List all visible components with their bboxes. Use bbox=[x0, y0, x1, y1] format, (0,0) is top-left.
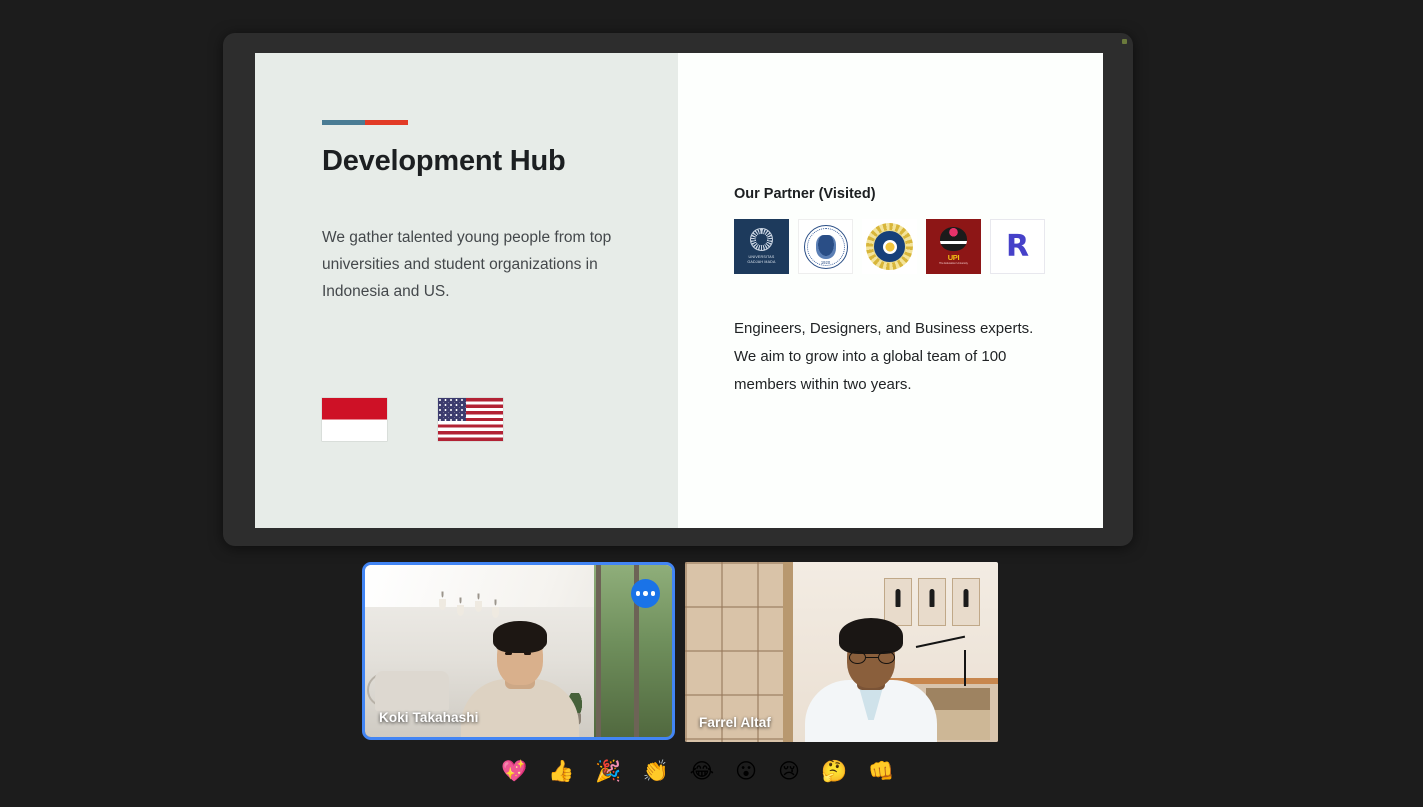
thumbs-up-reaction[interactable]: 👍 bbox=[548, 761, 574, 782]
ugm-emblem-icon bbox=[750, 228, 773, 251]
uad-seal-core bbox=[883, 240, 897, 254]
participant-name-farrel-altaf: Farrel Altaf bbox=[699, 715, 771, 730]
partner-body-text: Engineers, Designers, and Business exper… bbox=[734, 315, 1054, 399]
slide-left-panel: Development Hub We gather talented young… bbox=[255, 53, 678, 528]
uad-seal-inner bbox=[873, 230, 906, 263]
thinking-face-reaction[interactable]: 🤔 bbox=[821, 761, 847, 782]
upi-logo-tagline: The Education University bbox=[939, 262, 968, 265]
koki-scene-sofa bbox=[375, 671, 449, 711]
fist-bump-reaction[interactable]: 👊 bbox=[868, 761, 894, 782]
face-with-tears-of-joy-reaction[interactable]: 😂 bbox=[690, 761, 715, 782]
uad-seal-icon bbox=[866, 223, 913, 270]
slide-body-text: We gather talented young people from top… bbox=[322, 224, 637, 305]
r-logo-letter: R bbox=[1006, 232, 1029, 262]
sparkling-heart-reaction[interactable]: 💖 bbox=[501, 761, 527, 782]
participant-tile-koki-takahashi[interactable]: Koki Takahashi bbox=[362, 562, 675, 740]
partner-logo-row: UNIVERSITAS GADJAH MADA 1920 bbox=[734, 219, 1103, 274]
farrel-person-hair bbox=[839, 618, 903, 654]
accent-bar-red-segment bbox=[365, 120, 408, 125]
reaction-bar: 💖 👍 🎉 👏 😂 😮 😢 🤔 👊 bbox=[497, 753, 898, 789]
upi-mark: UPI The Education University bbox=[939, 227, 968, 265]
r-logo-icon: R bbox=[990, 219, 1045, 274]
recording-dot-icon bbox=[1122, 39, 1127, 44]
partner-heading: Our Partner (Visited) bbox=[734, 186, 1103, 202]
koki-person-hair bbox=[493, 621, 547, 651]
video-call-screen: Development Hub We gather talented young… bbox=[0, 0, 1423, 807]
indonesia-flag-icon bbox=[322, 398, 387, 441]
clapping-hands-reaction[interactable]: 👏 bbox=[642, 761, 668, 782]
accent-bar-blue-segment bbox=[322, 120, 365, 125]
participant-name-koki-takahashi: Koki Takahashi bbox=[379, 710, 478, 725]
upi-emblem-icon bbox=[940, 227, 967, 251]
presentation-slide: Development Hub We gather talented young… bbox=[255, 53, 1103, 528]
koki-person-right-eye bbox=[524, 652, 531, 655]
koki-scene-person bbox=[461, 617, 579, 737]
farrel-person-glasses bbox=[849, 651, 895, 664]
accent-bar bbox=[322, 120, 408, 125]
itb-logo-year: 1920 bbox=[805, 260, 847, 265]
ugm-logo-line2: GADJAH MADA bbox=[747, 260, 775, 265]
flag-group bbox=[322, 398, 503, 441]
face-with-open-mouth-reaction[interactable]: 😮 bbox=[735, 761, 757, 782]
slide-right-panel: Our Partner (Visited) UNIVERSITAS GADJAH… bbox=[678, 53, 1103, 528]
slide-title: Development Hub bbox=[322, 145, 678, 178]
shared-screen-window: Development Hub We gather talented young… bbox=[223, 33, 1133, 546]
crying-face-reaction[interactable]: 😢 bbox=[778, 761, 800, 782]
upi-logo-icon: UPI The Education University bbox=[926, 219, 981, 274]
farrel-scene-person bbox=[805, 608, 937, 742]
usa-flag-icon bbox=[438, 398, 503, 441]
koki-person-left-eye bbox=[505, 652, 512, 655]
participant-tile-farrel-altaf[interactable]: Farrel Altaf bbox=[685, 562, 998, 742]
itb-seal-icon: 1920 bbox=[804, 225, 848, 269]
itb-logo-icon: 1920 bbox=[798, 219, 853, 274]
participant-tile-strip: Koki Takahashi bbox=[362, 562, 998, 742]
party-popper-reaction[interactable]: 🎉 bbox=[595, 761, 621, 782]
usa-flag-stars bbox=[438, 398, 466, 421]
more-options-icon[interactable] bbox=[631, 579, 660, 608]
ugm-logo-icon: UNIVERSITAS GADJAH MADA bbox=[734, 219, 789, 274]
uad-logo-icon bbox=[862, 219, 917, 274]
koki-scene-pendant-lamps bbox=[437, 587, 515, 615]
